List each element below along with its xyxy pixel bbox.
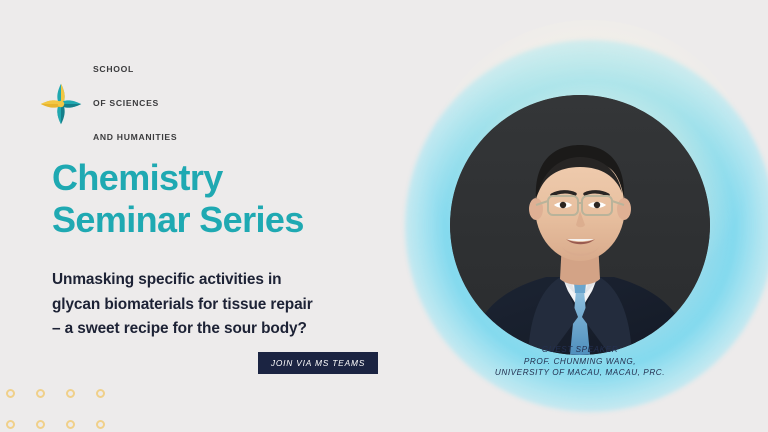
speaker-portrait <box>450 95 710 355</box>
join-button-label: JOIN VIA MS TEAMS <box>271 358 365 368</box>
subtitle-line-1: Unmasking specific activities in <box>52 268 313 293</box>
join-via-ms-teams-button[interactable]: JOIN VIA MS TEAMS <box>258 352 378 374</box>
speaker-name: PROF. CHUNMING WANG, <box>440 356 720 368</box>
dot-ring-icon <box>96 389 105 398</box>
school-logo: SCHOOL OF SCIENCES AND HUMANITIES <box>38 42 177 165</box>
dot-ring-icon <box>96 420 105 429</box>
subtitle-line-3: – a sweet recipe for the sour body? <box>52 317 313 342</box>
dot-ring-icon <box>36 420 45 429</box>
dot-ring-icon <box>66 389 75 398</box>
title-line-1: Chemistry <box>52 157 304 199</box>
dot-ring-icon <box>66 420 75 429</box>
subtitle-line-2: glycan biomaterials for tissue repair <box>52 293 313 318</box>
speaker-role: GUEST SPEAKER <box>440 344 720 356</box>
talk-subtitle: Unmasking specific activities in glycan … <box>52 268 313 342</box>
logo-line-1: SCHOOL <box>93 64 177 75</box>
title-line-2: Seminar Series <box>52 199 304 241</box>
page-title: Chemistry Seminar Series <box>52 157 304 241</box>
seminar-poster: SCHOOL OF SCIENCES AND HUMANITIES Chemis… <box>0 0 768 432</box>
decorative-dot-grid <box>6 389 126 432</box>
dot-ring-icon <box>6 389 15 398</box>
logo-line-2: OF SCIENCES <box>93 98 177 109</box>
school-logo-icon <box>38 81 84 127</box>
speaker-affiliation: UNIVERSITY OF MACAU, MACAU, PRC. <box>440 367 720 379</box>
school-logo-text: SCHOOL OF SCIENCES AND HUMANITIES <box>93 42 177 165</box>
speaker-portrait-image <box>450 95 710 355</box>
dot-ring-icon <box>36 389 45 398</box>
dot-ring-icon <box>6 420 15 429</box>
speaker-credit: GUEST SPEAKER PROF. CHUNMING WANG, UNIVE… <box>440 344 720 379</box>
logo-line-3: AND HUMANITIES <box>93 132 177 143</box>
